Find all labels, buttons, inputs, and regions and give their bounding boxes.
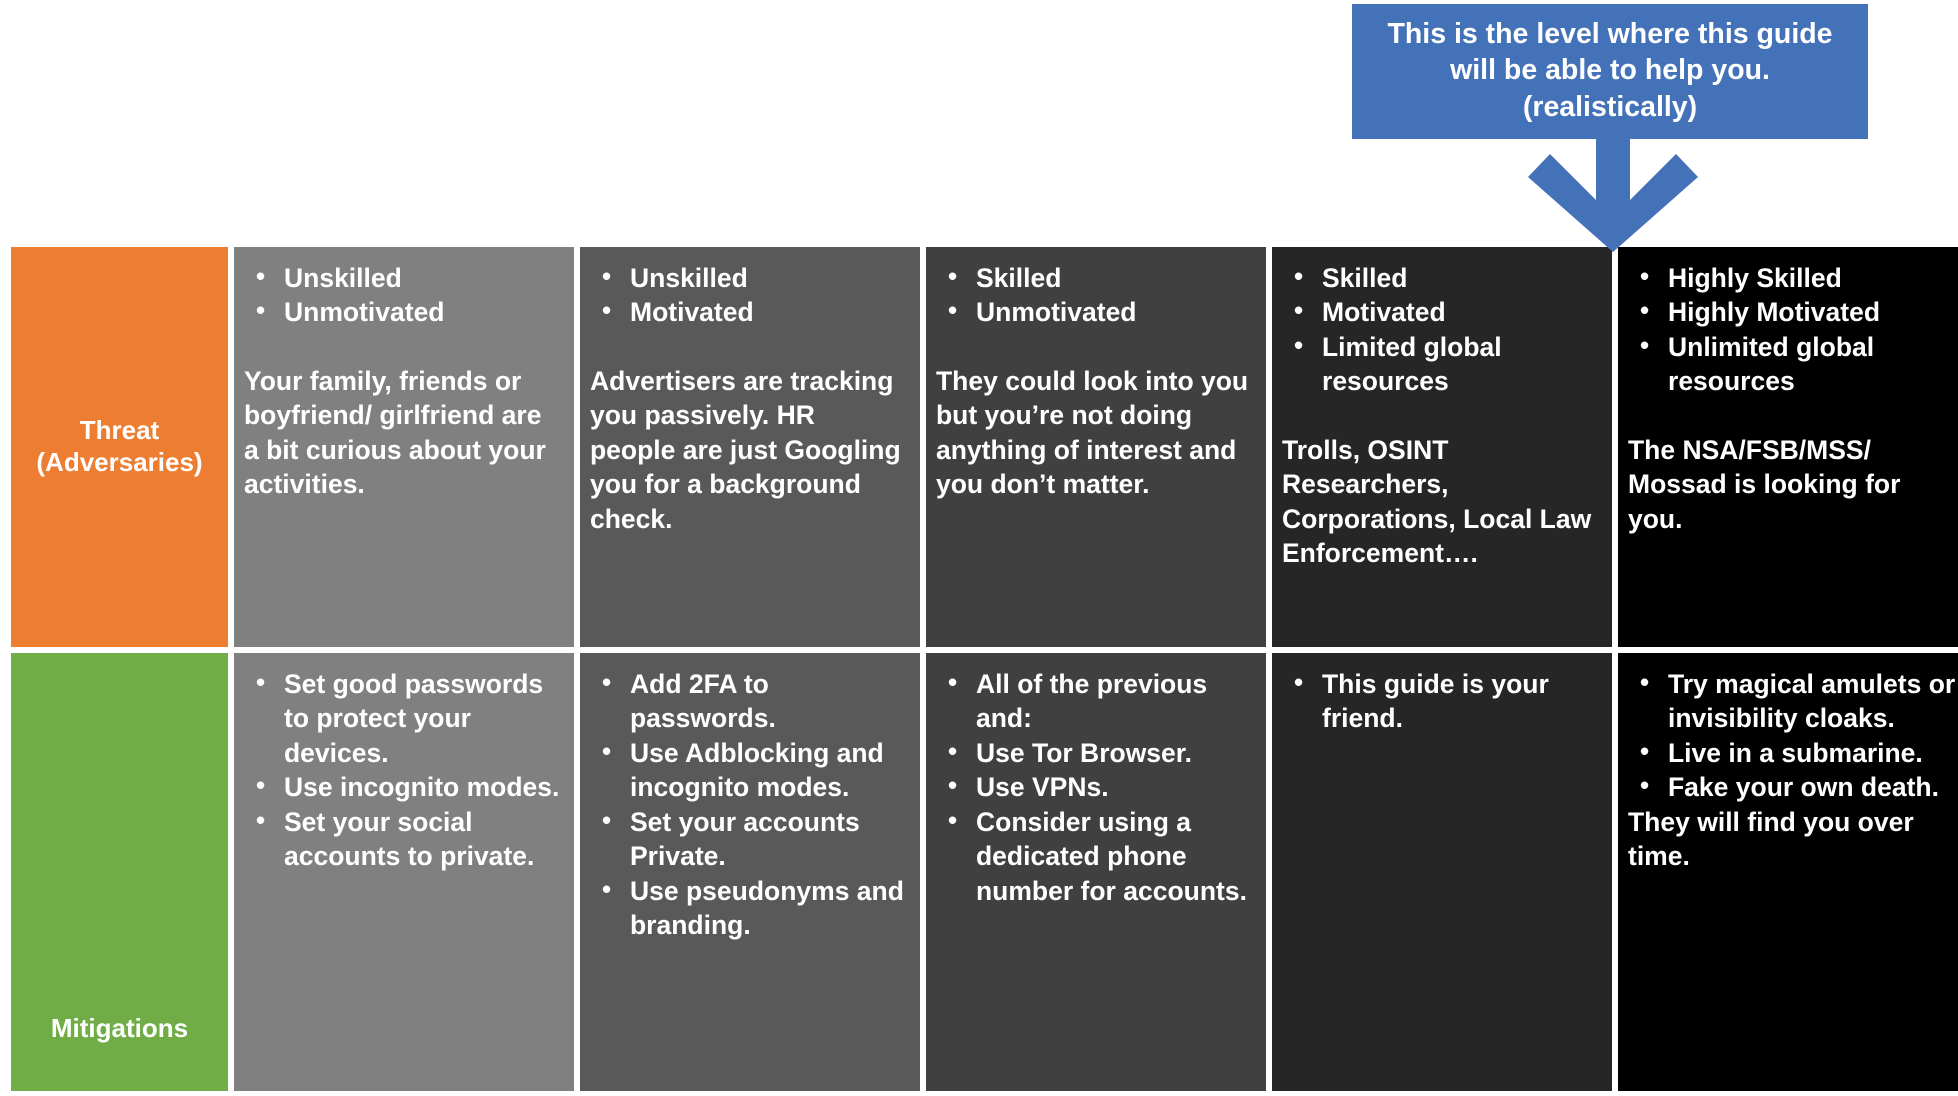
mitigation-paragraph-level-5: They will find you over time. bbox=[1628, 805, 1957, 874]
mitigation-cell-level-5: Try magical amulets or invisibility cloa… bbox=[1618, 653, 1958, 1091]
list-item: Add 2FA to passwords. bbox=[630, 667, 906, 736]
list-item: Use VPNs. bbox=[976, 770, 1252, 804]
threat-bullets-level-2: Unskilled Motivated bbox=[590, 261, 906, 330]
threat-paragraph-level-2: Advertisers are tracking you passively. … bbox=[590, 364, 906, 536]
row-label-threat: Threat (Adversaries) bbox=[11, 247, 228, 647]
list-item: Fake your own death. bbox=[1668, 770, 1957, 804]
list-item: Unmotivated bbox=[976, 295, 1252, 329]
list-item: Set your social accounts to private. bbox=[284, 805, 560, 874]
mitigation-cell-level-1: Set good passwords to protect your devic… bbox=[234, 653, 574, 1091]
mitigation-cell-level-4: This guide is your friend. bbox=[1272, 653, 1612, 1091]
list-item: Use Tor Browser. bbox=[976, 736, 1252, 770]
callout-container: This is the level where this guide will … bbox=[1352, 4, 1868, 139]
mitigation-cell-level-2: Add 2FA to passwords. Use Adblocking and… bbox=[580, 653, 920, 1091]
list-item: Unmotivated bbox=[284, 295, 560, 329]
row-label-threat-line2: (Adversaries) bbox=[36, 447, 202, 479]
list-item: Highly Motivated bbox=[1668, 295, 1957, 329]
threat-cell-level-5: Highly Skilled Highly Motivated Unlimite… bbox=[1618, 247, 1958, 647]
down-arrow-icon bbox=[1528, 130, 1698, 252]
mitigation-bullets-level-4: This guide is your friend. bbox=[1282, 667, 1598, 736]
list-item: Try magical amulets or invisibility cloa… bbox=[1668, 667, 1957, 736]
threat-paragraph-level-1: Your family, friends or boyfriend/ girlf… bbox=[244, 364, 560, 502]
threat-cell-level-3: Skilled Unmotivated They could look into… bbox=[926, 247, 1266, 647]
threat-cell-level-2: Unskilled Motivated Advertisers are trac… bbox=[580, 247, 920, 647]
threat-paragraph-level-3: They could look into you but you’re not … bbox=[936, 364, 1252, 502]
callout-box: This is the level where this guide will … bbox=[1352, 4, 1868, 139]
threat-cell-level-4: Skilled Motivated Limited global resourc… bbox=[1272, 247, 1612, 647]
threat-bullets-level-5: Highly Skilled Highly Motivated Unlimite… bbox=[1628, 261, 1957, 399]
list-item: Unskilled bbox=[284, 261, 560, 295]
row-label-mitigations: Mitigations bbox=[11, 653, 228, 1091]
list-item: Motivated bbox=[630, 295, 906, 329]
threat-bullets-level-3: Skilled Unmotivated bbox=[936, 261, 1252, 330]
list-item: Unlimited global resources bbox=[1668, 330, 1957, 399]
list-item: Skilled bbox=[976, 261, 1252, 295]
list-item: Use Adblocking and incognito modes. bbox=[630, 736, 906, 805]
callout-line-2: will be able to help you. bbox=[1366, 52, 1854, 88]
list-item: Set good passwords to protect your devic… bbox=[284, 667, 560, 770]
callout-line-3: (realistically) bbox=[1366, 89, 1854, 125]
row-label-threat-line1: Threat bbox=[36, 415, 202, 447]
threat-cell-level-1: Unskilled Unmotivated Your family, frien… bbox=[234, 247, 574, 647]
list-item: Set your accounts Private. bbox=[630, 805, 906, 874]
list-item: Live in a submarine. bbox=[1668, 736, 1957, 770]
list-item: Limited global resources bbox=[1322, 330, 1598, 399]
threat-paragraph-level-5: The NSA/FSB/MSS/ Mossad is looking for y… bbox=[1628, 433, 1957, 536]
list-item: Use pseudonyms and branding. bbox=[630, 874, 906, 943]
threat-bullets-level-1: Unskilled Unmotivated bbox=[244, 261, 560, 330]
mitigation-bullets-level-2: Add 2FA to passwords. Use Adblocking and… bbox=[590, 667, 906, 943]
mitigation-cell-level-3: All of the previous and: Use Tor Browser… bbox=[926, 653, 1266, 1091]
list-item: Unskilled bbox=[630, 261, 906, 295]
threat-model-matrix: Threat (Adversaries) Unskilled Unmotivat… bbox=[11, 247, 1947, 1085]
list-item: Highly Skilled bbox=[1668, 261, 1957, 295]
list-item: This guide is your friend. bbox=[1322, 667, 1598, 736]
threat-paragraph-level-4: Trolls, OSINT Researchers, Corporations,… bbox=[1282, 433, 1598, 571]
list-item: Motivated bbox=[1322, 295, 1598, 329]
mitigation-bullets-level-5: Try magical amulets or invisibility cloa… bbox=[1628, 667, 1957, 805]
mitigation-bullets-level-1: Set good passwords to protect your devic… bbox=[244, 667, 560, 874]
list-item: Consider using a dedicated phone number … bbox=[976, 805, 1252, 908]
list-item: Use incognito modes. bbox=[284, 770, 560, 804]
row-label-mitigations-text: Mitigations bbox=[51, 1013, 188, 1045]
list-item: All of the previous and: bbox=[976, 667, 1252, 736]
callout-line-1: This is the level where this guide bbox=[1366, 16, 1854, 52]
threat-bullets-level-4: Skilled Motivated Limited global resourc… bbox=[1282, 261, 1598, 399]
list-item: Skilled bbox=[1322, 261, 1598, 295]
mitigation-bullets-level-3: All of the previous and: Use Tor Browser… bbox=[936, 667, 1252, 908]
